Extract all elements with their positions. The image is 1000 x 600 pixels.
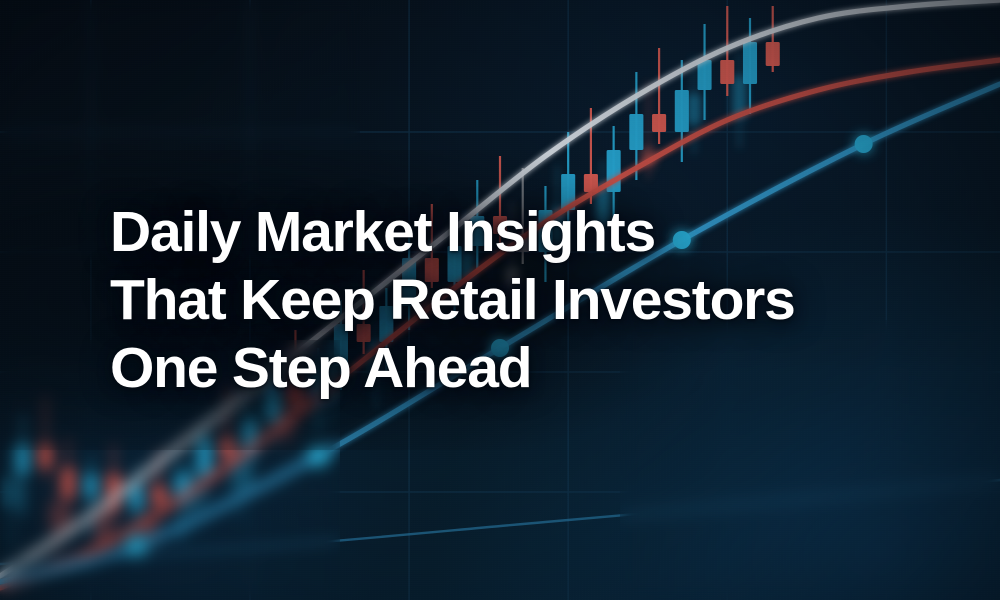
candlestick [766, 6, 780, 72]
data-point-marker [127, 537, 145, 555]
headline-line-1: Daily Market Insights [110, 198, 950, 266]
headline-line-3: One Step Ahead [110, 334, 950, 402]
hero-headline: Daily Market Insights That Keep Retail I… [110, 198, 950, 402]
data-point-marker [855, 135, 873, 153]
headline-line-2: That Keep Retail Investors [110, 266, 950, 334]
candlestick [38, 396, 52, 480]
candlestick [652, 48, 666, 144]
hero-banner: Daily Market Insights That Keep Retail I… [0, 0, 1000, 600]
data-point-marker [309, 447, 327, 465]
